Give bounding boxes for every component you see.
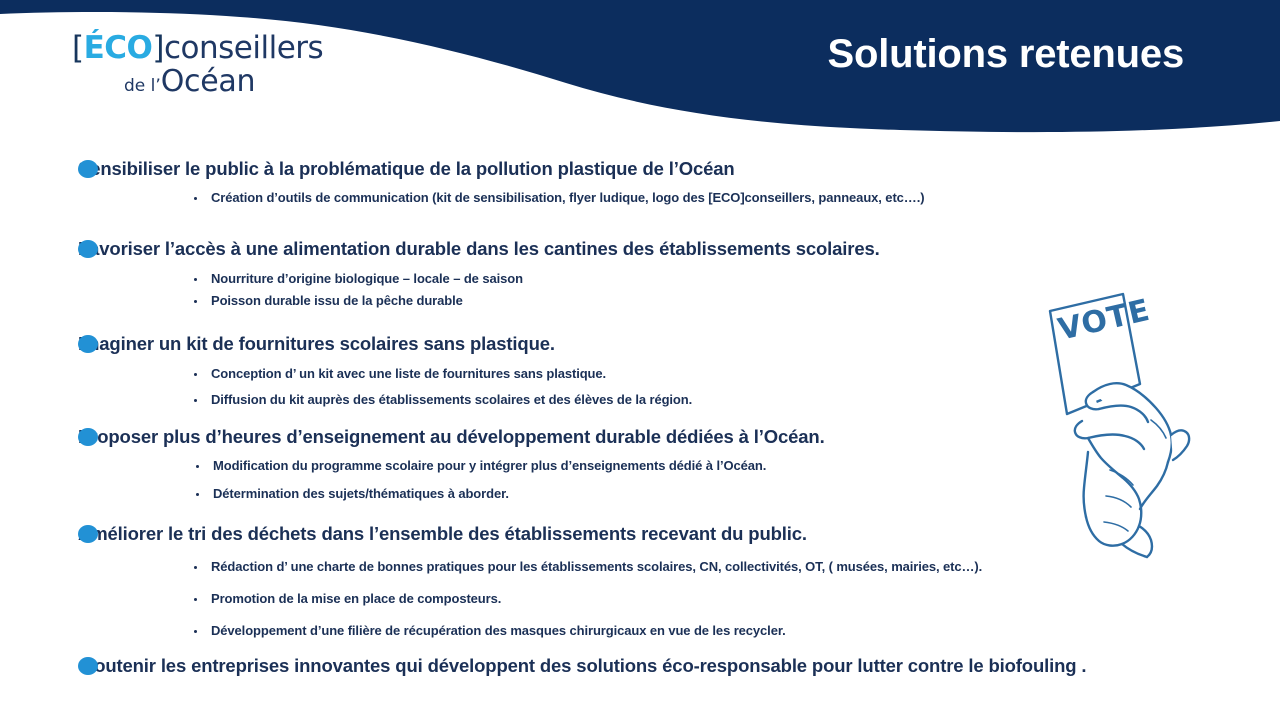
sub-bullet-dot-icon: [194, 373, 197, 376]
sub-bullet-dot-icon: [194, 630, 197, 633]
list-item: Détermination des sujets/thématiques à a…: [193, 486, 825, 501]
logo-line-secondary: de l’Océan: [72, 67, 323, 97]
bullet-group-2-heading: Favoriser l’accès à une alimentation dur…: [78, 238, 880, 259]
bullet-group-1-heading: Sensibiliser le public à la problématiqu…: [78, 158, 924, 179]
bullet-group-5-heading: Améliorer le tri des déchets dans l’ense…: [78, 523, 982, 544]
bullet-group-3-heading-text: Imaginer un kit de fournitures scolaires…: [78, 333, 555, 354]
bullet-group-3: Imaginer un kit de fournitures scolaires…: [10, 333, 692, 418]
sub-bullet-dot-icon: [196, 493, 199, 496]
list-item-text: Développement d’une filière de récupérat…: [211, 623, 786, 638]
logo-word-eco: ÉCO: [84, 30, 153, 66]
sub-bullet-dot-icon: [194, 197, 197, 200]
list-item: Rédaction d’ une charte de bonnes pratiq…: [191, 559, 982, 574]
logo-eco-conseillers-de-l-ocean: [ÉCO]conseillers de l’Océan: [72, 33, 323, 97]
logo-word-de-l: de l’: [124, 76, 161, 96]
bullet-group-3-sublist: Conception d’ un kit avec une liste de f…: [191, 366, 692, 407]
bullet-dot-icon: [78, 657, 98, 675]
page-title: Solutions retenues: [828, 32, 1184, 77]
bullet-dot-icon: [78, 335, 98, 353]
bullet-group-5: Améliorer le tri des déchets dans l’ense…: [10, 523, 982, 655]
bullet-group-2-heading-text: Favoriser l’accès à une alimentation dur…: [78, 238, 880, 259]
list-item-text: Création d’outils de communication (kit …: [211, 190, 924, 205]
bullet-group-5-heading-text: Améliorer le tri des déchets dans l’ense…: [78, 523, 807, 544]
bullet-group-1-sublist: Création d’outils de communication (kit …: [191, 190, 924, 205]
list-item: Modification du programme scolaire pour …: [193, 458, 825, 473]
logo-bracket-open: [: [72, 30, 84, 66]
list-item: Nourriture d’origine biologique – locale…: [191, 271, 880, 286]
slide-body: Sensibiliser le public à la problématiqu…: [0, 140, 1280, 720]
list-item: Diffusion du kit auprès des établissemen…: [191, 392, 692, 407]
list-item: Création d’outils de communication (kit …: [191, 190, 924, 205]
list-item-text: Poisson durable issu de la pêche durable: [211, 293, 463, 308]
list-item-text: Rédaction d’ une charte de bonnes pratiq…: [211, 559, 982, 574]
logo-bracket-close: ]: [152, 30, 164, 66]
bullet-group-3-heading: Imaginer un kit de fournitures scolaires…: [78, 333, 692, 354]
list-item: Conception d’ un kit avec une liste de f…: [191, 366, 692, 381]
list-item-text: Diffusion du kit auprès des établissemen…: [211, 392, 692, 407]
logo-line-primary: [ÉCO]conseillers: [72, 33, 323, 64]
list-item-text: Promotion de la mise en place de compost…: [211, 591, 501, 606]
sub-bullet-dot-icon: [194, 566, 197, 569]
list-item-text: Conception d’ un kit avec une liste de f…: [211, 366, 606, 381]
list-item-text: Détermination des sujets/thématiques à a…: [213, 486, 509, 501]
bullet-group-5-sublist: Rédaction d’ une charte de bonnes pratiq…: [191, 559, 982, 638]
list-item: Poisson durable issu de la pêche durable: [191, 293, 880, 308]
bullet-group-4-sublist: Modification du programme scolaire pour …: [193, 458, 825, 501]
bullet-group-1-heading-text: Sensibiliser le public à la problématiqu…: [78, 158, 735, 179]
sub-bullet-dot-icon: [194, 278, 197, 281]
sub-bullet-dot-icon: [196, 465, 199, 468]
logo-word-conseillers: conseillers: [164, 30, 323, 66]
sub-bullet-dot-icon: [194, 598, 197, 601]
bullet-group-6: Soutenir les entreprises innovantes qui …: [10, 655, 1086, 676]
list-item-text: Nourriture d’origine biologique – locale…: [211, 271, 523, 286]
bullet-group-4-heading-text: Proposer plus d’heures d’enseignement au…: [78, 426, 825, 447]
bullet-group-6-heading: Soutenir les entreprises innovantes qui …: [78, 655, 1086, 676]
bullet-group-4: Proposer plus d’heures d’enseignement au…: [10, 426, 825, 514]
bullet-dot-icon: [78, 428, 98, 446]
bullet-group-2-sublist: Nourriture d’origine biologique – locale…: [191, 271, 880, 308]
bullet-group-4-heading: Proposer plus d’heures d’enseignement au…: [78, 426, 825, 447]
sub-bullet-dot-icon: [194, 300, 197, 303]
bullet-dot-icon: [78, 525, 98, 543]
logo-word-ocean: Océan: [161, 64, 255, 99]
sub-bullet-dot-icon: [194, 399, 197, 402]
bullet-group-6-heading-text: Soutenir les entreprises innovantes qui …: [82, 655, 1086, 676]
bullet-group-2: Favoriser l’accès à une alimentation dur…: [10, 238, 880, 315]
bullet-dot-icon: [78, 160, 98, 178]
bullet-group-1: Sensibiliser le public à la problématiqu…: [10, 158, 924, 205]
bullet-dot-icon: [78, 240, 98, 258]
list-item: Développement d’une filière de récupérat…: [191, 623, 982, 638]
list-item: Promotion de la mise en place de compost…: [191, 591, 982, 606]
list-item-text: Modification du programme scolaire pour …: [213, 458, 766, 473]
